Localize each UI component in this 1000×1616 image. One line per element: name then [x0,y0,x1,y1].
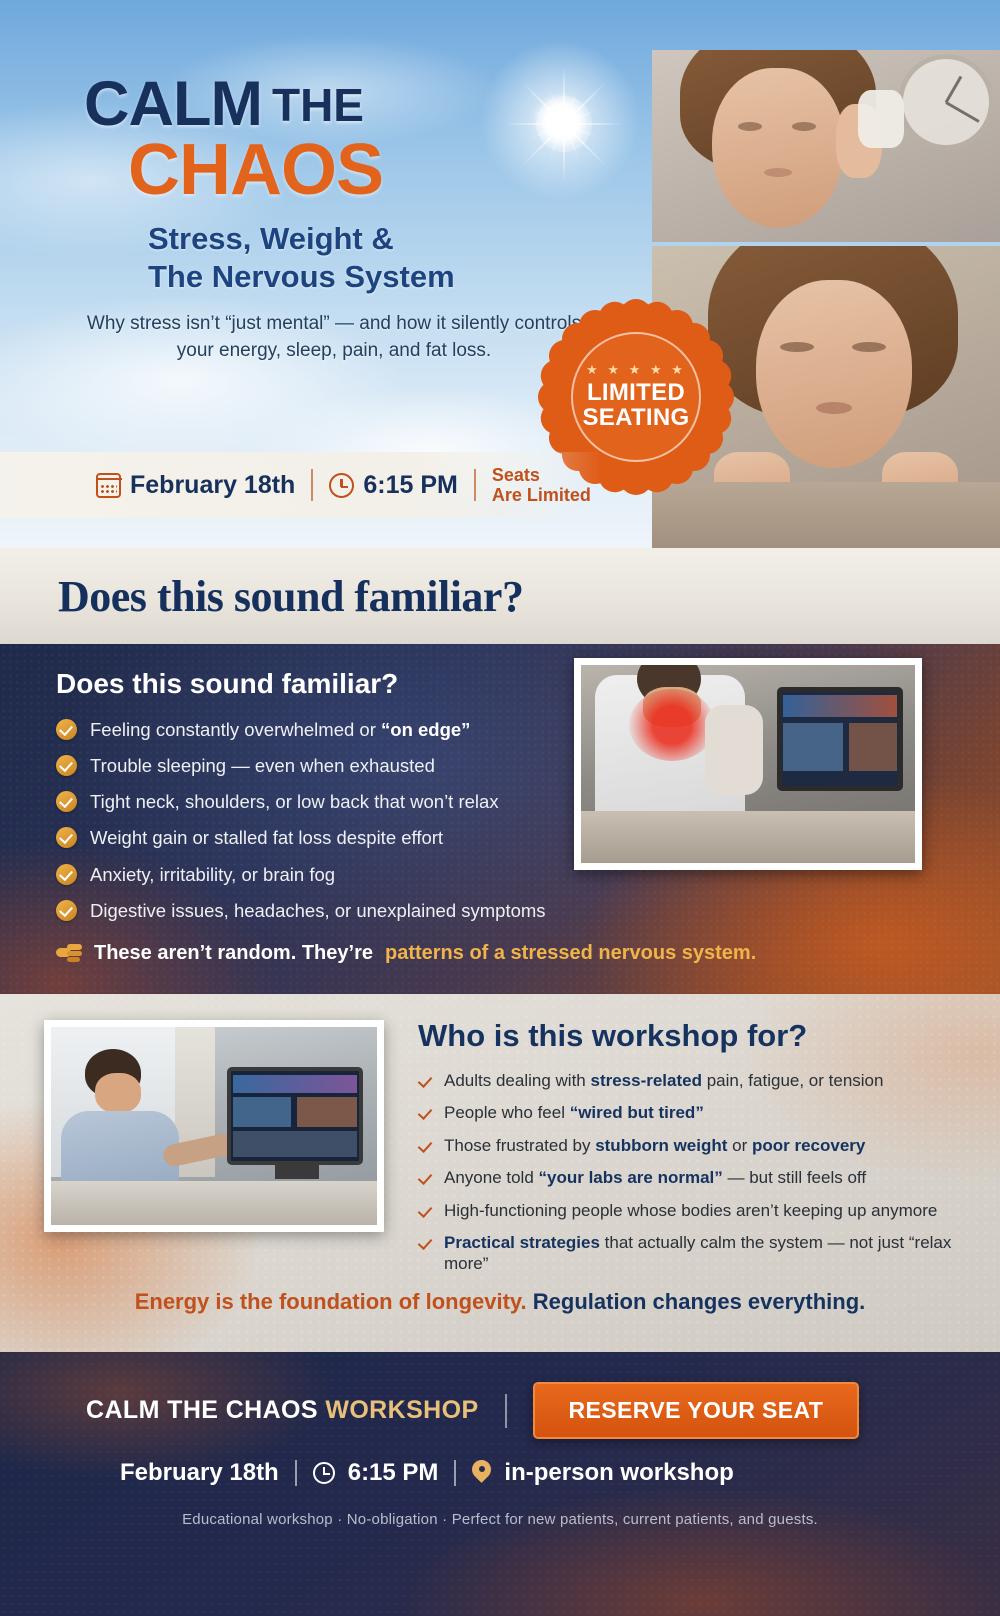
audience-section: Who is this workshop for? Adults dealing… [0,994,1000,1352]
check-icon [418,1236,433,1249]
reserve-your-seat-button[interactable]: RESERVE YOUR SEAT [533,1382,860,1439]
check-circle-icon [56,791,77,812]
footer-brand-white: CALM THE CHAOS [86,1396,325,1424]
section-band-familiar: Does this sound familiar? [0,548,1000,644]
callout-gold-text: patterns of a stressed nervous system. [385,942,756,965]
check-circle-icon [56,900,77,921]
symptom-text: Weight gain or stalled fat loss despite … [90,826,443,849]
check-icon [418,1204,433,1217]
photo-doctor-at-monitor [44,1020,384,1232]
check-icon [418,1171,433,1184]
audience-text: High-functioning people whose bodies are… [444,1200,937,1221]
location-pin-icon [472,1460,491,1486]
clock-icon [329,473,354,498]
footer-time-text: 6:15 PM [348,1459,439,1487]
audience-text: Anyone told “your labs are normal” — but… [444,1167,866,1188]
clock-icon [313,1462,335,1484]
audience-list-item: People who feel “wired but tired” [418,1102,993,1123]
symptoms-title: Does this sound familiar? [56,668,560,700]
check-icon [418,1074,433,1087]
footer-brand-gold: WORKSHOP [325,1396,478,1424]
check-circle-icon [56,864,77,885]
divider [505,1394,507,1428]
symptom-text: Feeling constantly overwhelmed or “on ed… [90,718,470,741]
band-title: Does this sound familiar? [58,571,523,622]
symptoms-content: Does this sound familiar? Feeling consta… [0,644,560,922]
footer-details-row: February 18th 6:15 PM in-person workshop [0,1439,1000,1487]
badge-disc: ★ ★ ★ ★ ★ LIMITED SEATING [571,332,701,462]
check-icon [418,1106,433,1119]
badge-line-2: SEATING [583,405,690,430]
audience-list-item: High-functioning people whose bodies are… [418,1200,993,1221]
footer-disclaimer: Educational workshop · No-obligation · P… [0,1511,1000,1528]
audience-text: Practical strategies that actually calm … [444,1232,993,1275]
photo-frame-inner [581,665,915,863]
hero-description: Why stress isn’t “just mental” — and how… [84,311,584,364]
symptoms-callout: These aren’t random. They’re patterns of… [56,942,1000,965]
audience-tagline: Energy is the foundation of longevity. R… [0,1289,1000,1315]
symptom-text: Tight neck, shoulders, or low back that … [90,790,499,813]
audience-list-item: Adults dealing with stress-related pain,… [418,1070,993,1091]
divider [474,469,476,501]
footer-date-text: February 18th [120,1459,279,1487]
symptom-text: Anxiety, irritability, or brain fog [90,863,335,886]
symptoms-section: Does this sound familiar? Feeling consta… [0,644,1000,994]
symptom-list-item: Feeling constantly overwhelmed or “on ed… [56,718,560,741]
wall-clock-decor-icon [898,54,994,150]
hero-text-block: CALMTHE CHAOS Stress, Weight & The Nervo… [0,0,660,365]
divider [454,1460,456,1486]
footer-brand-row: CALM THE CHAOS WORKSHOP RESERVE YOUR SEA… [0,1352,1000,1439]
subheading-line-2: The Nervous System [148,258,660,296]
footer-brand: CALM THE CHAOS WORKSHOP [86,1396,479,1425]
hero-section: CALMTHE CHAOS Stress, Weight & The Nervo… [0,0,1000,548]
hero-date-bar: February 18th 6:15 PM Seats Are Limited [0,452,600,518]
headline-the: THE [272,79,364,131]
subheading-line-1: Stress, Weight & [148,220,660,258]
footer-location-text: in-person workshop [504,1459,733,1487]
hero-subheading: Stress, Weight & The Nervous System [148,220,660,296]
symptom-list-item: Tight neck, shoulders, or low back that … [56,790,560,813]
audience-title: Who is this workshop for? [418,1018,993,1054]
photo-man-neck-pain [574,658,922,870]
hero-date-item: February 18th [96,471,295,500]
headline-line-2: CHAOS [128,134,660,206]
audience-text: People who feel “wired but tired” [444,1102,704,1123]
divider [311,469,313,501]
check-circle-icon [56,719,77,740]
audience-list-item: Anyone told “your labs are normal” — but… [418,1167,993,1188]
symptom-list-item: Digestive issues, headaches, or unexplai… [56,899,560,922]
seats-line-2: Are Limited [492,485,591,505]
seats-line-1: Seats [492,465,591,485]
audience-text: Those frustrated by stubborn weight or p… [444,1135,865,1156]
hero-time-text: 6:15 PM [363,471,457,500]
pointing-hand-icon [56,943,82,963]
footer-cta-section: CALM THE CHAOS WORKSHOP RESERVE YOUR SEA… [0,1352,1000,1616]
tagline-orange-text: Energy is the foundation of longevity. [135,1289,527,1314]
hero-seats-limited: Seats Are Limited [492,465,591,505]
symptom-text: Digestive issues, headaches, or unexplai… [90,899,546,922]
photo-frame-inner [51,1027,377,1225]
symptom-list-item: Trouble sleeping — even when exhausted [56,754,560,777]
hero-time-item: 6:15 PM [329,471,457,500]
symptom-text: Trouble sleeping — even when exhausted [90,754,435,777]
limited-seating-badge: ★ ★ ★ ★ ★ LIMITED SEATING [562,323,710,471]
badge-line-1: LIMITED [587,381,685,405]
audience-content: Who is this workshop for? Adults dealing… [418,994,993,1275]
symptom-list-item: Anxiety, irritability, or brain fog [56,863,560,886]
hero-date-text: February 18th [130,471,295,500]
tagline-navy-text: Regulation changes everything. [527,1289,866,1314]
calendar-icon [96,473,121,498]
audience-list-item: Practical strategies that actually calm … [418,1232,993,1275]
badge-stars-icon: ★ ★ ★ ★ ★ [586,363,686,376]
check-icon [418,1139,433,1152]
symptoms-list: Feeling constantly overwhelmed or “on ed… [56,718,560,922]
divider [295,1460,297,1486]
headline-calm: CALM [84,69,262,139]
photo-woman-on-phone [652,50,1000,242]
audience-list: Adults dealing with stress-related pain,… [418,1070,993,1275]
symptom-list-item: Weight gain or stalled fat loss despite … [56,826,560,849]
check-circle-icon [56,755,77,776]
flyer-poster: CALMTHE CHAOS Stress, Weight & The Nervo… [0,0,1000,1616]
check-circle-icon [56,827,77,848]
headline-line-1: CALMTHE [84,74,660,136]
audience-text: Adults dealing with stress-related pain,… [444,1070,883,1091]
callout-white-text: These aren’t random. They’re [94,942,373,965]
audience-list-item: Those frustrated by stubborn weight or p… [418,1135,993,1156]
